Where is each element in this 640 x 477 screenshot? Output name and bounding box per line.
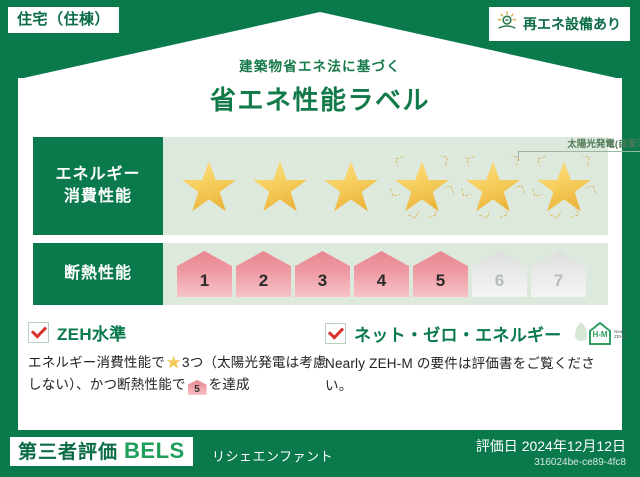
zeh-heading: ZEH水準 <box>28 320 328 345</box>
insulation-performance-row: 断熱性能 1 2 3 4 5 6 7 <box>33 243 608 305</box>
zeh-standard-block: ZEH水準 エネルギー消費性能で3つ（太陽光発電は考慮しない）、かつ断熱性能で5… <box>28 320 328 396</box>
insulation-grade-7: 7 <box>531 251 586 297</box>
insulation-performance-label-box: 断熱性能 <box>33 243 163 305</box>
evaluation-id: 316024be-ce89-4fc8 <box>534 457 626 468</box>
net-zero-checkbox-icon <box>325 323 346 344</box>
energy-performance-label: 住宅（住棟） 再エネ設備あり 建築物省エネ法に基づく 省エネ性能ラベル <box>0 0 640 477</box>
net-zero-energy-block: ネット・ゼロ・エネルギー H-M Nearly ZEH-M Nearly ZEH… <box>325 320 615 397</box>
insulation-grade-6: 6 <box>472 251 527 297</box>
svg-text:H-M: H-M <box>592 330 607 339</box>
energy-label-line2: 消費性能 <box>64 186 132 208</box>
bels-jp-label: 第三者評価 <box>18 443 118 462</box>
zeh-checkbox-icon <box>28 322 49 343</box>
insulation-grade-3: 3 <box>295 251 350 297</box>
inline-house-badge-icon: 5 <box>188 380 207 395</box>
renewable-equipment-badge: 再エネ設備あり <box>489 7 630 41</box>
star-1 <box>175 153 243 219</box>
net-zero-description: Nearly ZEH-M の要件は評価書をご覧ください。 <box>325 353 615 397</box>
net-zero-title: ネット・ゼロ・エネルギー <box>354 321 562 346</box>
star-4-solar <box>388 153 456 219</box>
zeh-description: エネルギー消費性能で3つ（太陽光発電は考慮しない）、かつ断熱性能で5を達成 <box>28 352 328 396</box>
net-zero-heading: ネット・ゼロ・エネルギー H-M Nearly ZEH-M <box>325 320 615 346</box>
insulation-grade-2: 2 <box>236 251 291 297</box>
zeh-m-house-logo: H-M Nearly ZEH-M <box>570 320 626 346</box>
zeh-text-part1: エネルギー消費性能で <box>28 355 165 370</box>
inline-star-icon <box>166 355 181 369</box>
zeh-text-star: 3つ（太陽光発電 <box>182 355 286 370</box>
bels-en-label: BELS <box>124 440 185 462</box>
energy-label-line1: エネルギー <box>55 164 140 186</box>
svg-text:ZEH-M: ZEH-M <box>614 334 626 339</box>
star-6-solar <box>530 153 598 219</box>
bels-badge: 第三者評価 BELS <box>10 437 193 466</box>
star-5-solar <box>459 153 527 219</box>
star-3 <box>317 153 385 219</box>
dwelling-type-tag: 住宅（住棟） <box>8 7 119 33</box>
title-subtitle: 建築物省エネ法に基づく <box>0 55 640 75</box>
zeh-title: ZEH水準 <box>57 320 127 345</box>
insulation-grade-4: 4 <box>354 251 409 297</box>
label-title-block: 建築物省エネ法に基づく 省エネ性能ラベル <box>0 55 640 117</box>
star-rating-group <box>163 153 598 219</box>
insulation-grade-5: 5 <box>413 251 468 297</box>
insulation-grade-group: 1 2 3 4 5 6 7 <box>163 251 586 297</box>
label-footer: 第三者評価 BELS リシェエンファント 評価日 2024年12月12日 316… <box>0 430 640 477</box>
star-2 <box>246 153 314 219</box>
energy-performance-row: エネルギー 消費性能 太陽光発電(自家消費)分 <box>33 137 608 235</box>
insulation-rating-area: 1 2 3 4 5 6 7 <box>163 243 608 305</box>
energy-performance-label-box: エネルギー 消費性能 <box>33 137 163 235</box>
insulation-label-line1: 断熱性能 <box>64 263 132 285</box>
renewable-badge-label: 再エネ設備あり <box>523 17 621 31</box>
insulation-grade-1: 1 <box>177 251 232 297</box>
sun-solar-icon <box>496 11 518 36</box>
page-title: 省エネ性能ラベル <box>0 80 640 117</box>
solar-annotation-text: 太陽光発電(自家消費)分 <box>518 136 640 150</box>
evaluation-date: 評価日 2024年12月12日 <box>476 436 626 456</box>
builder-name: リシェエンファント <box>212 446 333 465</box>
zeh-text-part3: を達成 <box>209 377 250 392</box>
energy-rating-area: 太陽光発電(自家消費)分 <box>163 137 608 235</box>
